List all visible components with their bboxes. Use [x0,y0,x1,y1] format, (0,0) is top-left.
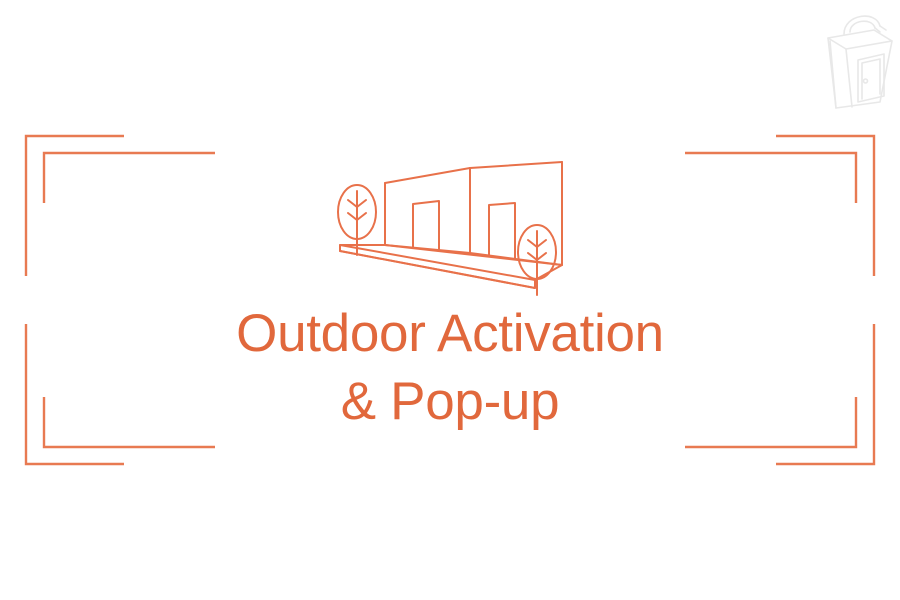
bracket-top-left-outer [26,136,124,276]
facade-panel-left [385,168,470,253]
page-title-line-1: Outdoor Activation [0,300,900,368]
bracket-top-left-inner [44,153,215,203]
page-title-line-2: & Pop-up [0,368,900,436]
slide-canvas: Outdoor Activation & Pop-up [0,0,900,600]
shopping-bag-door-icon [818,8,900,112]
page-title: Outdoor Activation & Pop-up [0,300,900,436]
doorway-left [413,201,439,250]
bracket-top-right-outer [776,136,874,276]
storefront-pop-up-illustration [322,150,578,298]
doorway-right [489,203,515,259]
bracket-top-right-inner [685,153,856,203]
